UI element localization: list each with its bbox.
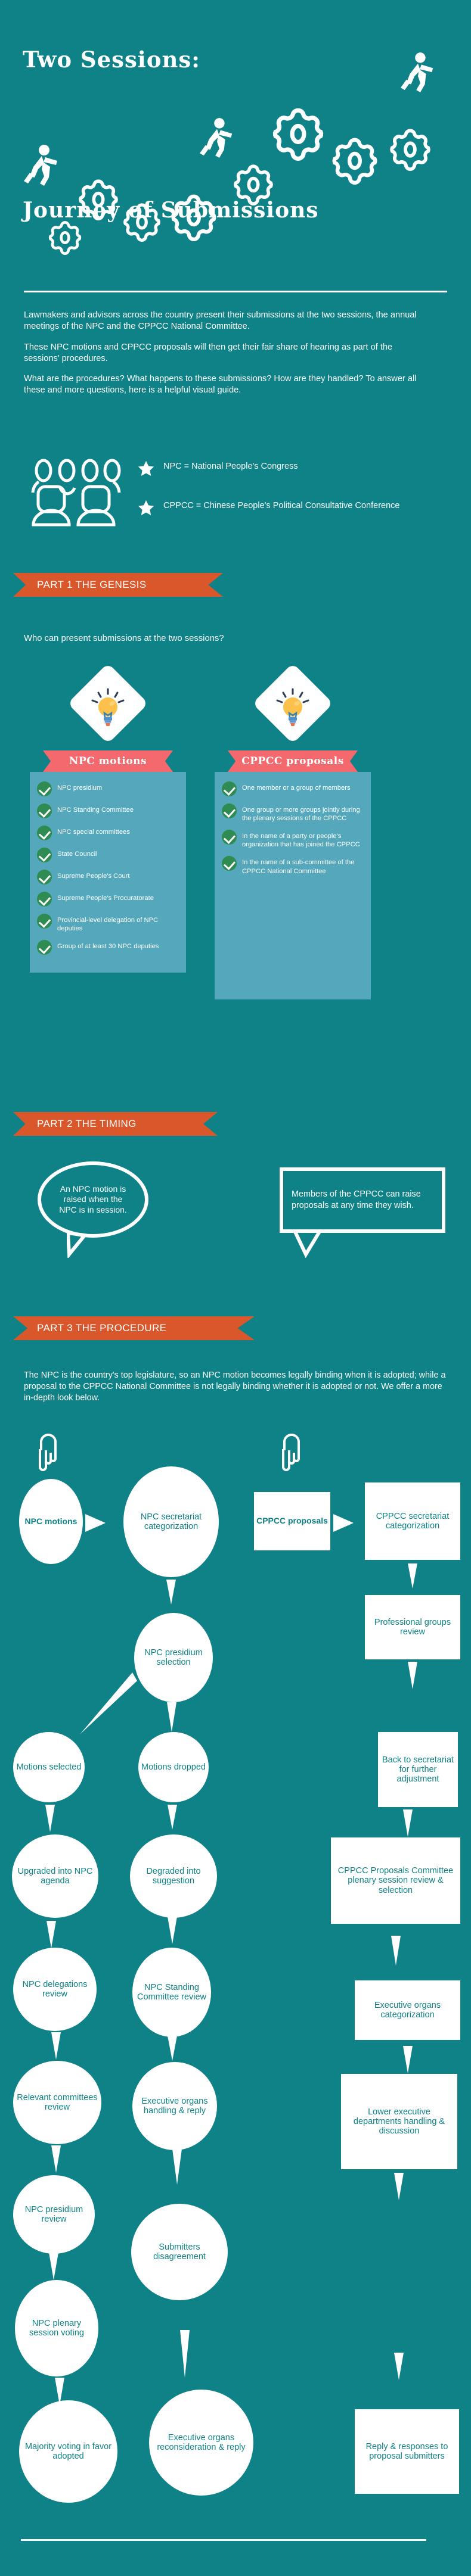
header: Two Sessions: Journey of Submissions bbox=[0, 0, 471, 238]
check-icon bbox=[37, 870, 52, 884]
check-icon bbox=[222, 830, 237, 845]
flow-arrow-down bbox=[43, 1805, 57, 1833]
star-icon bbox=[137, 460, 155, 478]
speech-bubble-cppcc: Members of the CPPCC can raise proposals… bbox=[280, 1167, 445, 1233]
check-icon bbox=[37, 892, 52, 907]
list-item: State Council bbox=[35, 848, 181, 862]
flow-arrow-down bbox=[164, 1580, 178, 1606]
part3-intro: The NPC is the country's top legislature… bbox=[24, 1370, 453, 1404]
section-banner-part1-label: PART 1 THE GENESIS bbox=[13, 579, 147, 591]
gear-icon bbox=[233, 164, 274, 205]
flow-arrow-down bbox=[392, 2173, 406, 2201]
flow-node-cppcc-secretariat-categorization: CPPCC secretariat categorization bbox=[365, 1482, 460, 1560]
section-banner-part1: PART 1 THE GENESIS bbox=[13, 573, 223, 597]
flow-arrow-down bbox=[405, 1563, 420, 1590]
gear-icon bbox=[78, 179, 119, 220]
flow-node-degraded-into-suggestion: Degraded into suggestion bbox=[130, 1834, 217, 1918]
flow-node-lower-executive-departments: Lower executive departments handling & d… bbox=[341, 2074, 457, 2169]
flow-node-executive-organs-reconsideration: Executive organs reconsideration & reply bbox=[149, 2390, 253, 2496]
card-npc-motions-title: NPC motions bbox=[69, 755, 147, 767]
gear-icon bbox=[48, 220, 82, 255]
gear-icon bbox=[170, 194, 218, 241]
speech-bubble-npc: An NPC motion is raised when the NPC is … bbox=[38, 1161, 148, 1238]
check-icon bbox=[222, 803, 237, 818]
runner-icon bbox=[401, 51, 438, 97]
flow-node-npc-standing-committee-review: NPC Standing Committee review bbox=[132, 1948, 211, 2037]
flow-arrow-right bbox=[85, 1513, 109, 1533]
speech-bubble-npc-text: An NPC motion is raised when the NPC is … bbox=[41, 1184, 145, 1216]
section-banner-part2-label: PART 2 THE TIMING bbox=[13, 1118, 137, 1130]
speech-bubble-cppcc-tail bbox=[290, 1229, 356, 1258]
lightbulb-icon bbox=[79, 675, 137, 732]
intro-paragraph-2: These NPC motions and CPPCC proposals wi… bbox=[24, 342, 417, 365]
legend-item-cppcc-label: CPPCC = Chinese People's Political Consu… bbox=[163, 499, 399, 512]
list-item: In the name of a party or people's organ… bbox=[219, 830, 366, 849]
card-cppcc-proposals-title-ribbon: CPPCC proposals bbox=[228, 750, 358, 772]
star-icon bbox=[137, 499, 155, 517]
check-icon bbox=[37, 803, 52, 818]
flow-node-motions-selected: Motions selected bbox=[13, 1732, 85, 1802]
runner-icon bbox=[24, 143, 62, 191]
list-item: Provincial-level delegation of NPC deput… bbox=[35, 914, 181, 933]
section-banner-part3-label: PART 3 THE PROCEDURE bbox=[13, 1322, 166, 1334]
section-banner-part2: PART 2 THE TIMING bbox=[13, 1112, 218, 1136]
flow-node-executive-organs-categorization: Executive organs categorization bbox=[355, 1980, 460, 2040]
flow-arrow-down-left bbox=[78, 1672, 137, 1737]
list-item: NPC presidium bbox=[35, 781, 181, 796]
gear-icon bbox=[122, 203, 162, 242]
list-item: NPC special committees bbox=[35, 826, 181, 840]
intro-paragraph-1: Lawmakers and advisors across the countr… bbox=[24, 310, 417, 333]
flow-arrow-down bbox=[49, 2032, 63, 2061]
speech-bubble-npc-tail bbox=[67, 1233, 87, 1258]
legend-item-cppcc: CPPCC = Chinese People's Political Consu… bbox=[137, 499, 399, 517]
divider-top bbox=[24, 291, 447, 292]
gear-icon bbox=[389, 128, 432, 171]
part1-question: Who can present submissions at the two s… bbox=[24, 634, 224, 643]
section-banner-part3: PART 3 THE PROCEDURE bbox=[13, 1316, 255, 1340]
flow-node-npc-presidium-selection: NPC presidium selection bbox=[134, 1613, 213, 1702]
flow-arrow-down bbox=[401, 1809, 415, 1838]
flow-node-npc-presidium-review: NPC presidium review bbox=[13, 2175, 95, 2254]
intro-paragraph-3: What are the procedures? What happens to… bbox=[24, 373, 417, 397]
check-icon bbox=[37, 914, 52, 929]
flow-node-executive-organs-handling-reply: Executive organs handling & reply bbox=[132, 2062, 217, 2150]
flow-arrow-down bbox=[405, 1662, 420, 1690]
intro-text: Lawmakers and advisors across the countr… bbox=[24, 310, 417, 406]
flow-node-professional-groups-review: Professional groups review bbox=[365, 1595, 460, 1659]
procedure-flowchart: NPC motions NPC secretariat categorizati… bbox=[0, 1418, 471, 2549]
list-item: In the name of a sub-committee of the CP… bbox=[219, 856, 366, 875]
flow-node-cppcc-proposals-committee-plenary: CPPCC Proposals Committee plenary sessio… bbox=[331, 1837, 460, 1924]
gear-icon bbox=[271, 107, 325, 161]
flow-arrow-down bbox=[165, 1805, 179, 1831]
flow-node-relevant-committees-review: Relevant committees review bbox=[13, 2061, 101, 2144]
flow-arrow-down bbox=[47, 2253, 61, 2281]
page-title-line-1: Two Sessions: bbox=[23, 46, 200, 73]
flow-arrow-down bbox=[44, 1921, 58, 1949]
flow-node-majority-voting-adopted: Majority voting in favor adopted bbox=[19, 2400, 117, 2503]
list-item: NPC Standing Committee bbox=[35, 803, 181, 818]
check-icon bbox=[37, 826, 52, 840]
flow-node-reply-responses-to-submitters: Reply & responses to proposal submitters bbox=[355, 2409, 459, 2494]
card-cppcc-proposals-list: One member or a group of members One gro… bbox=[215, 772, 371, 999]
divider-bottom bbox=[21, 2539, 426, 2541]
flow-arrow-down bbox=[165, 2036, 179, 2062]
flow-arrow-down bbox=[389, 1936, 403, 1967]
flow-arrow-right bbox=[333, 1513, 357, 1533]
flow-node-npc-delegations-review: NPC delegations review bbox=[13, 1948, 97, 2031]
check-icon bbox=[37, 848, 52, 862]
list-item: One group or more groups jointly during … bbox=[219, 803, 366, 823]
flow-node-cppcc-proposals: CPPCC proposals bbox=[254, 1492, 330, 1550]
check-icon bbox=[37, 940, 52, 955]
gear-icon bbox=[331, 137, 379, 185]
flow-node-upgraded-into-npc-agenda: Upgraded into NPC agenda bbox=[12, 1834, 98, 1918]
list-item: Supreme People's Procuratorate bbox=[35, 892, 181, 907]
list-item: Supreme People's Court bbox=[35, 870, 181, 884]
speech-bubble-cppcc-text: Members of the CPPCC can raise proposals… bbox=[283, 1189, 442, 1211]
pointing-down-hand-icon bbox=[34, 1432, 64, 1474]
flow-arrow-down bbox=[178, 2330, 192, 2379]
flow-node-npc-motions: NPC motions bbox=[19, 1479, 83, 1564]
lightbulb-icon bbox=[264, 675, 321, 732]
flow-arrow-down bbox=[170, 2149, 184, 2186]
people-group-icon bbox=[29, 455, 129, 527]
flow-arrow-down bbox=[165, 1702, 179, 1733]
legend: NPC = National People's Congress CPPCC =… bbox=[24, 453, 453, 536]
legend-item-npc-label: NPC = National People's Congress bbox=[163, 460, 298, 472]
pointing-down-hand-icon bbox=[277, 1432, 307, 1474]
flow-node-npc-secretariat-categorization: NPC secretariat categorization bbox=[123, 1466, 219, 1577]
card-npc-motions-title-ribbon: NPC motions bbox=[43, 750, 173, 772]
flow-node-submitters-disagreement: Submitters disagreement bbox=[131, 2204, 228, 2300]
flow-arrow-down bbox=[392, 2353, 406, 2381]
card-cppcc-proposals-title: CPPCC proposals bbox=[241, 755, 344, 767]
list-item: One member or a group of members bbox=[219, 781, 366, 796]
flow-arrow-down bbox=[49, 2145, 63, 2174]
flow-arrow-down bbox=[165, 1917, 179, 1945]
list-item: Group of at least 30 NPC deputies bbox=[35, 940, 181, 955]
card-npc-motions-list: NPC presidium NPC Standing Committee NPC… bbox=[30, 772, 186, 973]
check-icon bbox=[37, 781, 52, 796]
flow-node-npc-plenary-session-voting: NPC plenary session voting bbox=[15, 2280, 98, 2376]
runner-icon bbox=[200, 116, 237, 163]
legend-item-npc: NPC = National People's Congress bbox=[137, 460, 298, 478]
check-icon bbox=[222, 856, 237, 871]
check-icon bbox=[222, 781, 237, 796]
flow-arrow-down bbox=[401, 2046, 415, 2074]
flow-node-motions-dropped: Motions dropped bbox=[138, 1732, 209, 1802]
flow-node-back-to-secretariat: Back to secretariat for further adjustme… bbox=[378, 1732, 458, 1807]
